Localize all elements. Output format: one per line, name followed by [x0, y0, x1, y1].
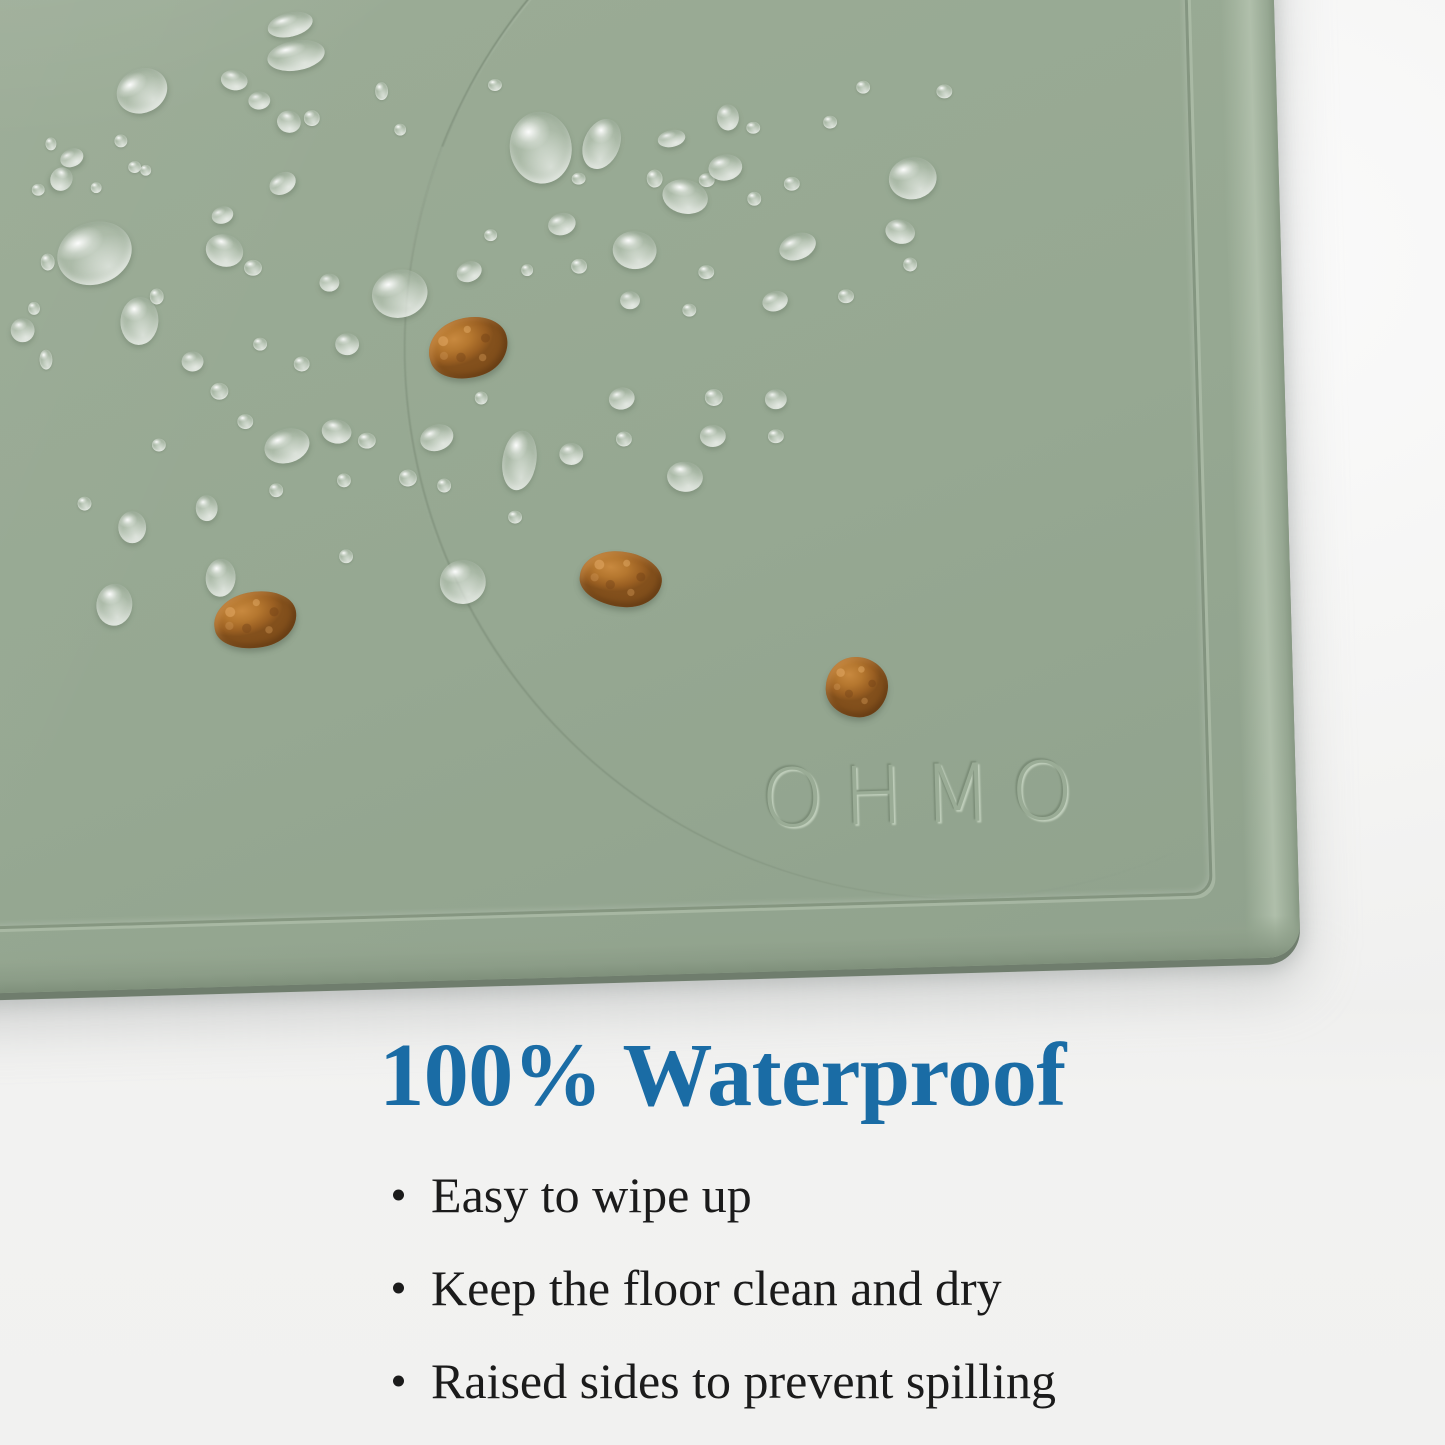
embossed-brand-logo: OHMO: [760, 751, 1078, 840]
pet-feeding-mat: OHMO: [0, 0, 1301, 1003]
feature-bullet-item: Keep the floor clean and dry: [389, 1261, 1056, 1316]
feature-bullet-label: Keep the floor clean and dry: [431, 1260, 1002, 1316]
mat-surface: OHMO: [0, 0, 1301, 1003]
feature-bullet-label: Raised sides to prevent spilling: [431, 1353, 1056, 1409]
feature-bullet-item: Raised sides to prevent spilling: [389, 1354, 1056, 1409]
bullet-dot-icon: [393, 1283, 404, 1294]
feature-bullet-label: Easy to wipe up: [431, 1167, 752, 1223]
headline-waterproof: 100% Waterproof: [0, 1030, 1445, 1122]
feature-bullet-item: Easy to wipe up: [389, 1168, 1056, 1223]
logo-letter: M: [921, 753, 995, 835]
product-image-canvas: OHMO 100% Waterproof Easy to wipe upKeep…: [0, 0, 1445, 1445]
bullet-dot-icon: [393, 1190, 404, 1201]
feature-bullet-list: Easy to wipe upKeep the floor clean and …: [389, 1168, 1056, 1409]
marketing-copy: 100% Waterproof Easy to wipe upKeep the …: [0, 1030, 1445, 1409]
logo-letter: H: [842, 756, 908, 838]
logo-letter: O: [760, 758, 828, 840]
bullet-dot-icon: [393, 1376, 404, 1387]
logo-letter: O: [1010, 751, 1078, 833]
